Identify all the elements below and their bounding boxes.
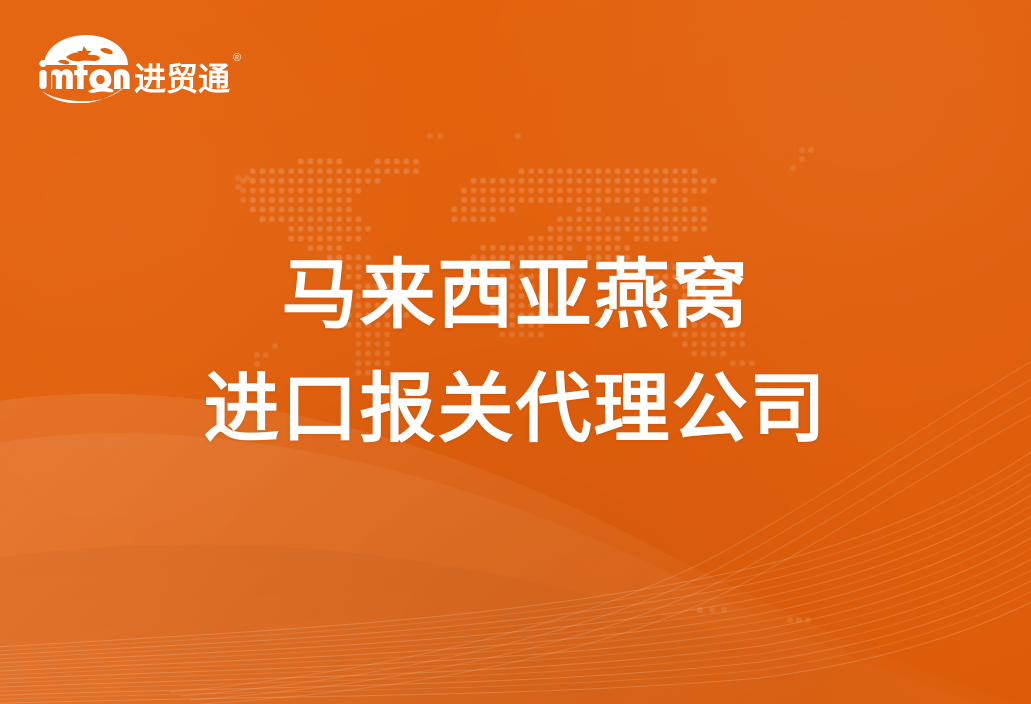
promo-banner: 进贸通 ® 马来西亚燕窝 进口报关代理公司 bbox=[0, 0, 1031, 704]
logo-chinese-name: 进贸通 bbox=[134, 61, 230, 97]
logo-svg: 进贸通 ® bbox=[36, 27, 251, 103]
globe-icon bbox=[44, 35, 128, 65]
swoosh-plane-icon bbox=[42, 85, 126, 103]
brand-logo[interactable]: 进贸通 ® bbox=[36, 27, 251, 103]
headline: 马来西亚燕窝 进口报关代理公司 bbox=[0, 258, 1031, 448]
headline-line-2: 进口报关代理公司 bbox=[0, 372, 1031, 448]
headline-line-1: 马来西亚燕窝 bbox=[0, 258, 1031, 334]
logo-trademark-symbol: ® bbox=[233, 52, 241, 64]
